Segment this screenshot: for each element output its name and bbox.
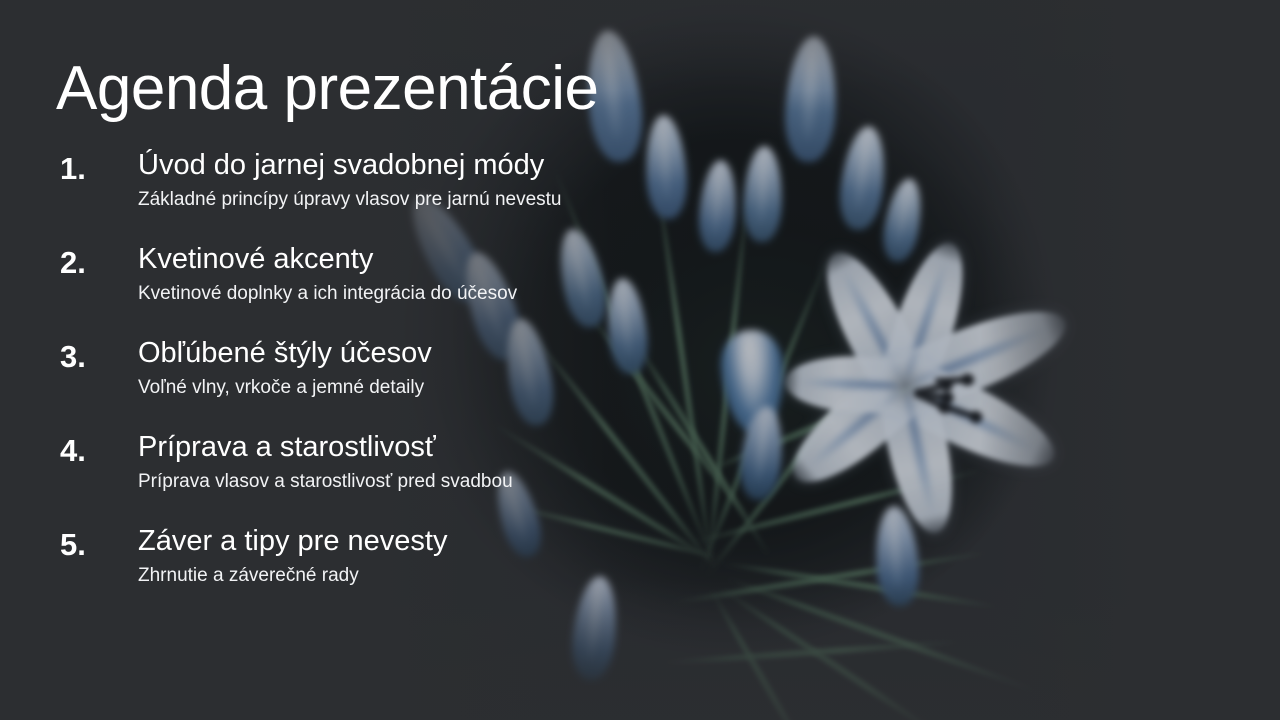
list-item[interactable]: 2. Kvetinové akcenty Kvetinové doplnky a…: [60, 240, 760, 312]
list-item-body: Záver a tipy pre nevesty Zhrnutie a záve…: [138, 522, 760, 590]
list-item[interactable]: 3. Obľúbené štýly účesov Voľné vlny, vrk…: [60, 334, 760, 406]
list-item-subtitle: Príprava vlasov a starostlivosť pred sva…: [138, 468, 760, 496]
list-item-body: Obľúbené štýly účesov Voľné vlny, vrkoče…: [138, 334, 760, 402]
list-item-title: Záver a tipy pre nevesty: [138, 522, 760, 560]
list-item-number: 1.: [60, 146, 138, 188]
list-item[interactable]: 4. Príprava a starostlivosť Príprava vla…: [60, 428, 760, 500]
presentation-slide: Agenda prezentácie 1. Úvod do jarnej sva…: [0, 0, 1280, 720]
page-title: Agenda prezentácie: [56, 55, 599, 123]
list-item-number: 5.: [60, 522, 138, 564]
list-item-body: Kvetinové akcenty Kvetinové doplnky a ic…: [138, 240, 760, 308]
list-item-subtitle: Základné princípy úpravy vlasov pre jarn…: [138, 186, 760, 214]
list-item-number: 2.: [60, 240, 138, 282]
list-item-body: Úvod do jarnej svadobnej módy Základné p…: [138, 146, 760, 214]
list-item-subtitle: Zhrnutie a záverečné rady: [138, 562, 760, 590]
agenda-list: 1. Úvod do jarnej svadobnej módy Základn…: [60, 146, 760, 616]
list-item-title: Úvod do jarnej svadobnej módy: [138, 146, 760, 184]
list-item-subtitle: Voľné vlny, vrkoče a jemné detaily: [138, 374, 760, 402]
list-item-number: 4.: [60, 428, 138, 470]
list-item-body: Príprava a starostlivosť Príprava vlasov…: [138, 428, 760, 496]
list-item-title: Príprava a starostlivosť: [138, 428, 760, 466]
list-item-title: Kvetinové akcenty: [138, 240, 760, 278]
slide-content: Agenda prezentácie 1. Úvod do jarnej sva…: [0, 0, 1280, 720]
list-item-title: Obľúbené štýly účesov: [138, 334, 760, 372]
list-item-number: 3.: [60, 334, 138, 376]
list-item-subtitle: Kvetinové doplnky a ich integrácia do úč…: [138, 280, 760, 308]
list-item[interactable]: 5. Záver a tipy pre nevesty Zhrnutie a z…: [60, 522, 760, 594]
list-item[interactable]: 1. Úvod do jarnej svadobnej módy Základn…: [60, 146, 760, 218]
